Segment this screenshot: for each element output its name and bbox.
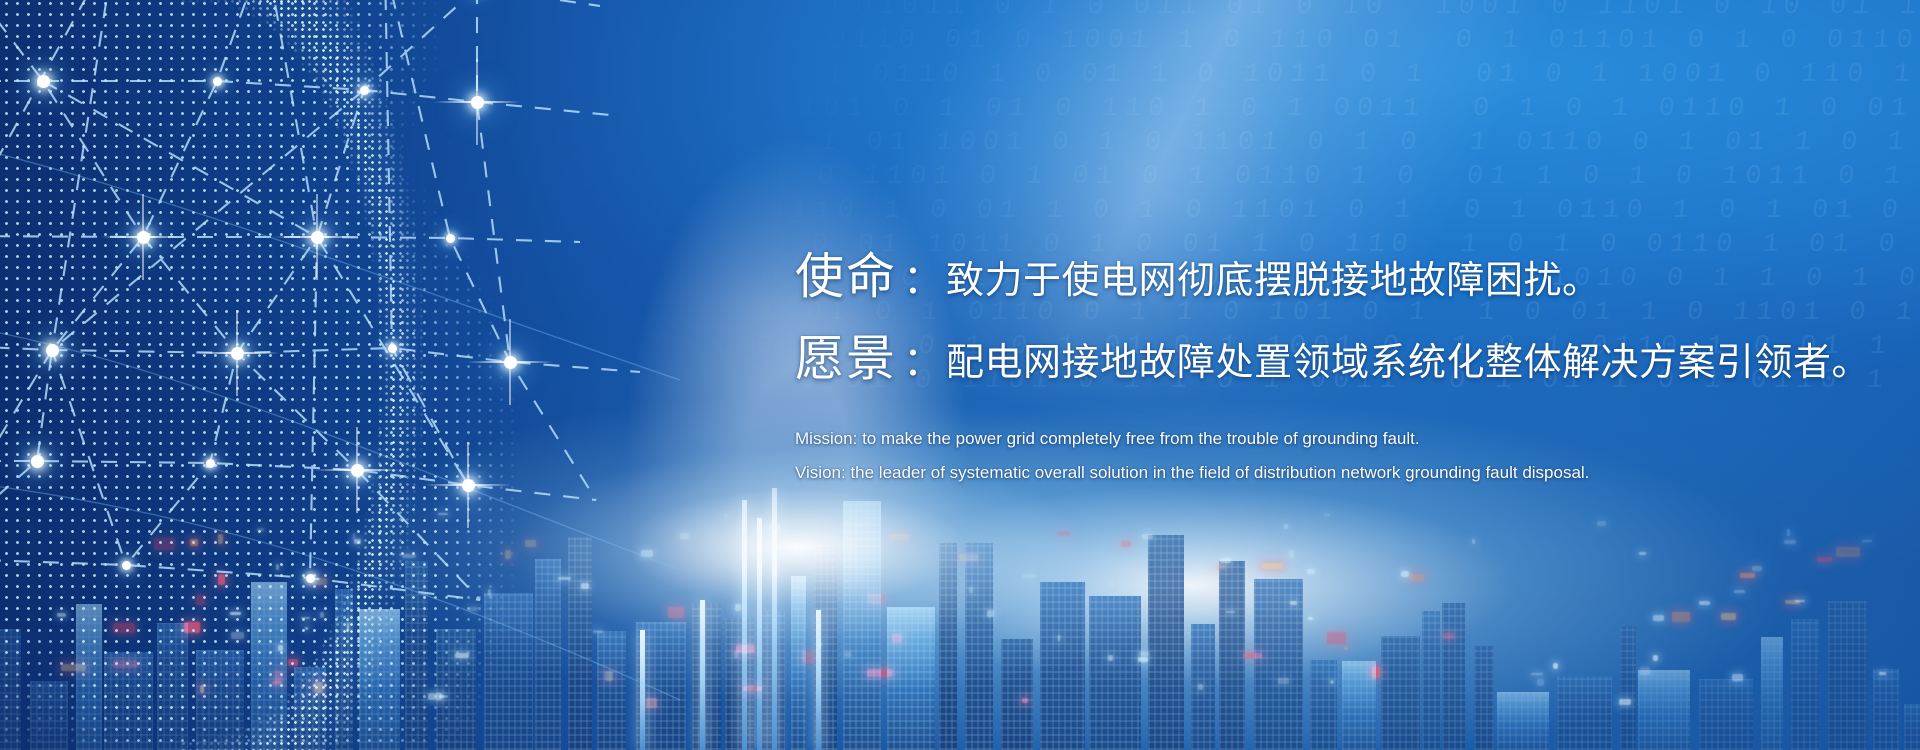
skyline-neon-light (1244, 653, 1262, 657)
skyline-spire (700, 600, 705, 750)
skyline-window-light (725, 514, 727, 517)
mission-colon: ： (897, 249, 946, 311)
skyline-building (791, 576, 806, 750)
skyline-window-light (1732, 674, 1743, 681)
skyline-building (692, 603, 721, 750)
skyline-neon-light (1721, 613, 1736, 620)
mission-label: 使命 (795, 246, 897, 308)
skyline-window-light (1784, 540, 1796, 544)
skyline-window-light (1734, 590, 1746, 592)
skyline-window-light (1139, 651, 1150, 657)
skyline-window-light (1278, 678, 1289, 684)
skyline-spire (816, 610, 821, 750)
network-node (462, 479, 475, 492)
skyline-window-light (1198, 684, 1203, 690)
skyline-neon-light (1262, 563, 1283, 569)
network-node (213, 77, 222, 86)
skyline-window-light (1308, 617, 1314, 620)
skyline-building (1873, 669, 1899, 750)
skyline-window-light (1639, 552, 1646, 555)
skyline-window-light (1862, 540, 1873, 542)
skyline-neon-light (868, 594, 884, 604)
network-connection-lines (0, 0, 680, 750)
skyline-window-light (1307, 569, 1315, 574)
skyline-neon-light (773, 566, 777, 575)
network-node (504, 356, 517, 369)
skyline-building (887, 607, 935, 750)
skyline-building (1791, 619, 1819, 750)
skyline-building (1761, 637, 1783, 750)
skyline-neon-light (1409, 574, 1424, 581)
skyline-window-light (1699, 601, 1711, 605)
skyline-window-light (1226, 611, 1235, 613)
skyline-building (1089, 596, 1141, 750)
skyline-building (843, 501, 881, 750)
network-node (446, 234, 455, 243)
skyline-window-light (1795, 600, 1805, 603)
network-node (137, 231, 150, 244)
skyline-building (1310, 660, 1337, 750)
vision-subtitle-en: Vision: the leader of systematic overall… (795, 462, 1895, 483)
skyline-window-light (1640, 667, 1650, 675)
vision-text: 配电网接地故障处置领域系统化整体解决方案引领者。 (946, 332, 1870, 394)
skyline-window-light (1284, 524, 1288, 529)
skyline-neon-light (1817, 557, 1832, 563)
vision-headline: 愿景 ： 配电网接地故障处置领域系统化整体解决方案引领者。 (795, 328, 1895, 394)
skyline-window-light (1537, 679, 1544, 686)
skyline-neon-light (1372, 666, 1380, 678)
network-node (388, 344, 397, 353)
hero-copy-block: 使命 ： 致力于使电网彻底摆脱接地故障困扰。 愿景 ： 配电网接地故障处置领域系… (795, 246, 1895, 483)
skyline-window-light (1653, 655, 1658, 661)
skyline-building (1474, 646, 1494, 750)
skyline-window-light (844, 652, 850, 657)
network-node (351, 464, 364, 477)
network-node (37, 75, 50, 88)
skyline-spire (742, 500, 747, 750)
skyline-building (1904, 704, 1920, 750)
network-node (311, 231, 324, 244)
skyline-building (1001, 639, 1033, 750)
network-node (31, 455, 44, 468)
skyline-window-light (1472, 539, 1475, 544)
skyline-neon-light (1836, 547, 1861, 556)
skyline-building (1148, 535, 1184, 750)
skyline-window-light (1138, 657, 1148, 663)
skyline-window-light (1752, 566, 1763, 570)
mission-text: 致力于使电网彻底摆脱接地故障困扰。 (946, 250, 1601, 312)
skyline-neon-light (892, 634, 902, 643)
skyline-building (1342, 661, 1376, 750)
skyline-building (1381, 636, 1420, 750)
skyline-neon-light (1344, 647, 1349, 650)
skyline-building (725, 618, 754, 750)
skyline-window-light (1324, 514, 1330, 517)
skyline-building (1497, 692, 1549, 750)
skyline-building (1828, 601, 1867, 750)
skyline-neon-light (1672, 612, 1690, 622)
skyline-building (939, 543, 957, 750)
skyline-window-light (680, 533, 689, 539)
skyline-spire (757, 518, 762, 750)
skyline-building (1557, 676, 1612, 750)
skyline-building (1040, 582, 1085, 750)
vision-colon: ： (897, 331, 946, 393)
skyline-window-light (734, 651, 738, 658)
skyline-neon-light (736, 645, 756, 653)
skyline-building (1638, 670, 1690, 750)
skyline-neon-light (890, 534, 909, 540)
skyline-neon-light (959, 554, 978, 561)
skyline-window-light (1108, 655, 1112, 660)
globe-network-graphic (0, 0, 680, 750)
skyline-neon-light (802, 651, 813, 663)
skyline-building (1422, 611, 1440, 750)
skyline-window-light (1597, 521, 1606, 526)
skyline-window-light (969, 587, 973, 594)
skyline-building (1219, 561, 1245, 750)
skyline-building (965, 543, 993, 750)
banner-hero: 01001011 0 1 0 011 01 0 10 1001 0 1101 0… (0, 0, 1920, 750)
skyline-neon-light (1327, 632, 1347, 644)
skyline-window-light (1022, 574, 1036, 578)
skyline-building (1620, 626, 1636, 750)
skyline-window-light (1531, 673, 1544, 676)
skyline-window-light (1553, 663, 1558, 670)
skyline-window-light (1220, 558, 1231, 562)
skyline-window-light (1619, 699, 1630, 706)
mission-headline: 使命 ： 致力于使电网彻底摆脱接地故障困扰。 (795, 246, 1895, 312)
skyline-neon-light (743, 686, 762, 690)
skyline-building (1699, 679, 1753, 750)
skyline-neon-light (1057, 531, 1070, 536)
skyline-window-light (1787, 529, 1790, 536)
network-node (206, 459, 215, 468)
skyline-window-light (1289, 550, 1295, 557)
skyline-window-light (768, 525, 780, 530)
mission-subtitle-en: Mission: to make the power grid complete… (795, 428, 1895, 449)
skyline-window-light (1108, 583, 1114, 585)
skyline-window-light (1290, 601, 1297, 605)
skyline-window-light (1142, 534, 1153, 539)
skyline-neon-light (1443, 633, 1454, 640)
network-node (306, 574, 315, 583)
skyline-window-light (735, 604, 742, 611)
network-node (122, 561, 131, 570)
skyline-building (1442, 603, 1465, 750)
skyline-window-light (818, 642, 821, 646)
skyline-building (1254, 579, 1303, 750)
skyline-neon-light (867, 669, 893, 677)
skyline-neon-light (1217, 564, 1225, 569)
network-node (360, 86, 369, 95)
vision-label: 愿景 (795, 328, 897, 390)
skyline-window-light (987, 610, 994, 617)
skyline-window-light (1653, 615, 1664, 621)
network-node (231, 347, 244, 360)
skyline-window-light (1879, 672, 1887, 675)
skyline-neon-light (1740, 573, 1755, 578)
network-node (471, 96, 484, 109)
network-node (46, 344, 59, 357)
skyline-neon-light (1022, 698, 1028, 703)
skyline-window-light (1401, 571, 1409, 576)
skyline-neon-light (1121, 541, 1131, 548)
